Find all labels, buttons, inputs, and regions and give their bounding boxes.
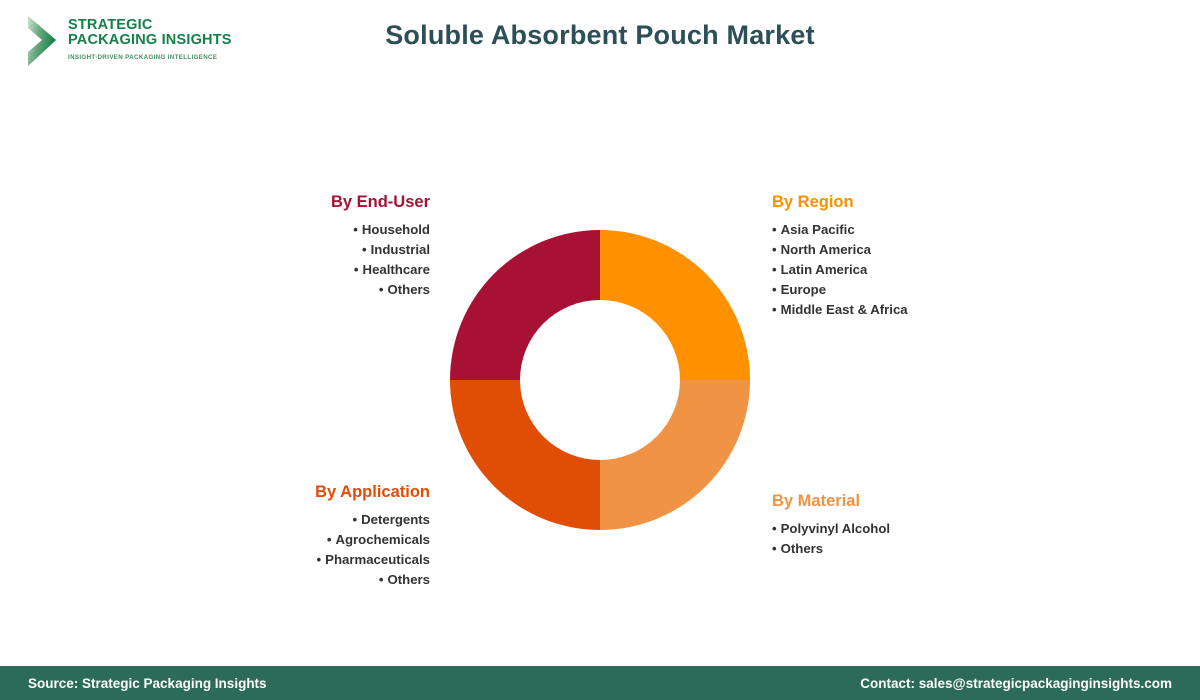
list-item: •Agrochemicals xyxy=(210,530,430,550)
segment-heading-end-user: By End-User xyxy=(230,193,430,212)
list-item: •Pharmaceuticals xyxy=(210,550,430,570)
footer-contact: Contact: sales@strategicpackaginginsight… xyxy=(860,676,1172,691)
segment-list-material: •Polyvinyl Alcohol•Others xyxy=(772,519,1032,559)
list-item: •Others xyxy=(230,280,430,300)
segment-block-material: By Material •Polyvinyl Alcohol•Others xyxy=(772,492,1032,559)
list-item-label: North America xyxy=(781,242,871,257)
bullet-icon: • xyxy=(772,302,777,317)
list-item-label: Others xyxy=(781,541,824,556)
list-item-label: Middle East & Africa xyxy=(781,302,908,317)
list-item-label: Asia Pacific xyxy=(781,222,855,237)
list-item: •Europe xyxy=(772,280,1032,300)
list-item: •North America xyxy=(772,240,1032,260)
list-item-label: Household xyxy=(362,222,430,237)
list-item-label: Detergents xyxy=(361,512,430,527)
list-item-label: Europe xyxy=(781,282,826,297)
list-item: •Detergents xyxy=(210,510,430,530)
bullet-icon: • xyxy=(772,222,777,237)
list-item-label: Others xyxy=(387,572,430,587)
segment-block-end-user: By End-User •Household•Industrial•Health… xyxy=(230,193,430,300)
segment-list-application: •Detergents•Agrochemicals•Pharmaceutical… xyxy=(210,510,430,590)
donut-slice-by-end-user xyxy=(450,230,600,380)
list-item: •Middle East & Africa xyxy=(772,300,1032,320)
segment-heading-material: By Material xyxy=(772,492,1032,511)
list-item: •Others xyxy=(772,539,1032,559)
donut-slice-by-region xyxy=(600,230,750,380)
donut-slice-by-material xyxy=(600,380,750,530)
bullet-icon: • xyxy=(362,242,367,257)
bullet-icon: • xyxy=(379,282,384,297)
list-item: •Household xyxy=(230,220,430,240)
list-item-label: Healthcare xyxy=(363,262,430,277)
segment-heading-region: By Region xyxy=(772,193,1032,212)
logo-tagline: INSIGHT-DRIVEN PACKAGING INTELLIGENCE xyxy=(68,54,232,61)
bullet-icon: • xyxy=(352,512,357,527)
list-item-label: Pharmaceuticals xyxy=(325,552,430,567)
segment-heading-application: By Application xyxy=(210,483,430,502)
bullet-icon: • xyxy=(772,521,777,536)
bullet-icon: • xyxy=(772,262,777,277)
segment-block-region: By Region •Asia Pacific•North America•La… xyxy=(772,193,1032,320)
bullet-icon: • xyxy=(379,572,384,587)
list-item-label: Polyvinyl Alcohol xyxy=(781,521,890,536)
bullet-icon: • xyxy=(772,541,777,556)
list-item-label: Latin America xyxy=(781,262,868,277)
list-item: •Healthcare xyxy=(230,260,430,280)
bullet-icon: • xyxy=(327,532,332,547)
list-item: •Polyvinyl Alcohol xyxy=(772,519,1032,539)
bullet-icon: • xyxy=(353,222,358,237)
list-item: •Asia Pacific xyxy=(772,220,1032,240)
segment-list-end-user: •Household•Industrial•Healthcare•Others xyxy=(230,220,430,300)
list-item-label: Agrochemicals xyxy=(335,532,430,547)
footer-source: Source: Strategic Packaging Insights xyxy=(28,676,267,691)
donut-slice-by-application xyxy=(450,380,600,530)
bullet-icon: • xyxy=(354,262,359,277)
segment-list-region: •Asia Pacific•North America•Latin Americ… xyxy=(772,220,1032,320)
bullet-icon: • xyxy=(772,282,777,297)
list-item-label: Others xyxy=(387,282,430,297)
list-item-label: Industrial xyxy=(371,242,430,257)
footer-bar: Source: Strategic Packaging Insights Con… xyxy=(0,666,1200,700)
list-item: •Industrial xyxy=(230,240,430,260)
bullet-icon: • xyxy=(772,242,777,257)
page-title: Soluble Absorbent Pouch Market xyxy=(0,20,1200,51)
list-item: •Others xyxy=(210,570,430,590)
bullet-icon: • xyxy=(317,552,322,567)
donut-chart xyxy=(450,230,750,530)
segment-block-application: By Application •Detergents•Agrochemicals… xyxy=(210,483,430,590)
list-item: •Latin America xyxy=(772,260,1032,280)
